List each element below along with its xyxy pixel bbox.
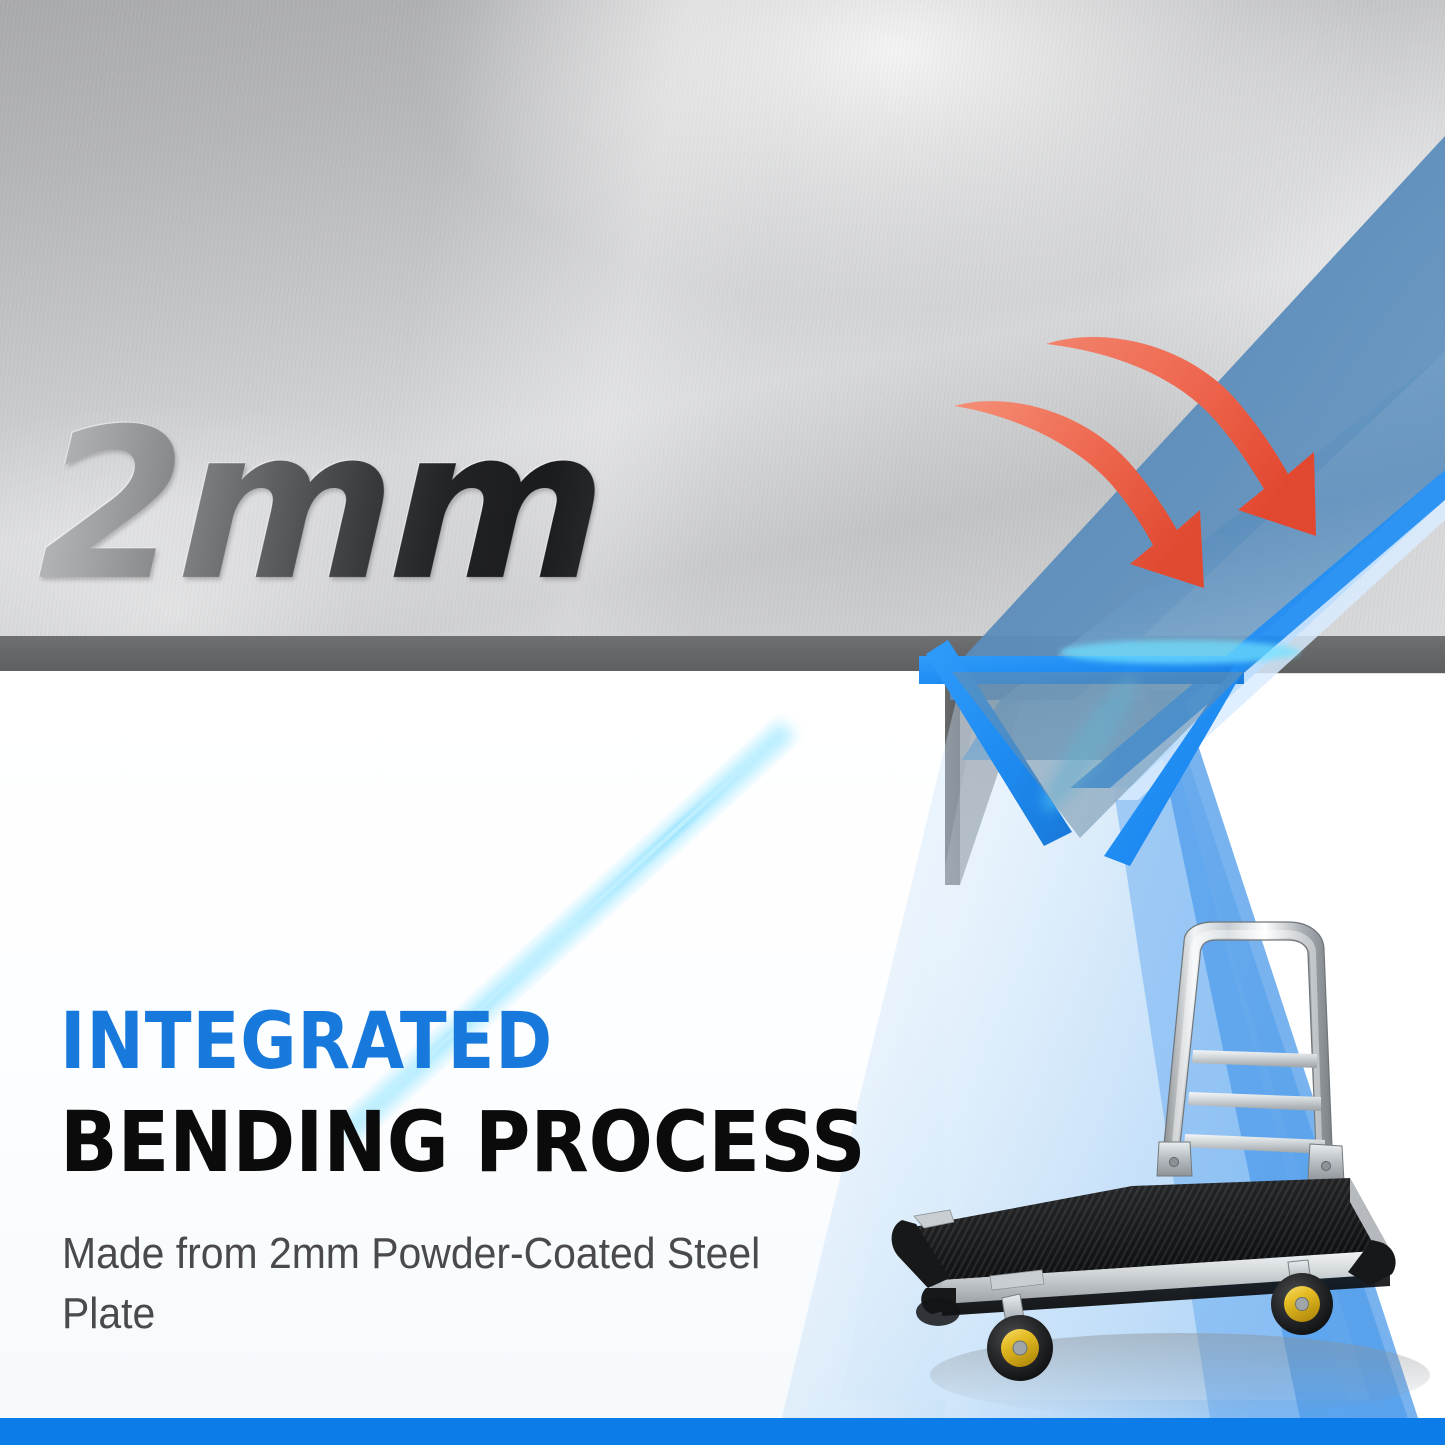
thickness-callout-wrap: 2mm — [40, 404, 1040, 624]
infographic-canvas: 2mm — [0, 0, 1445, 1445]
plate-bent-leg-face — [960, 673, 1032, 885]
thickness-callout: 2mm — [36, 404, 603, 609]
headline-primary: INTEGRATED — [60, 1000, 905, 1084]
footer-accent-bar — [0, 1418, 1445, 1445]
platform-hand-truck — [880, 880, 1445, 1425]
plate-front-edge — [0, 636, 1445, 673]
chrome-push-handle — [1164, 922, 1332, 1148]
headline-subtitle: Made from 2mm Powder-Coated Steel Plate — [62, 1224, 806, 1344]
handle-crossbars — [1184, 1050, 1325, 1154]
headline-secondary: BENDING PROCESS — [60, 1096, 924, 1188]
headline-block: INTEGRATED BENDING PROCESS — [60, 1000, 1020, 1188]
